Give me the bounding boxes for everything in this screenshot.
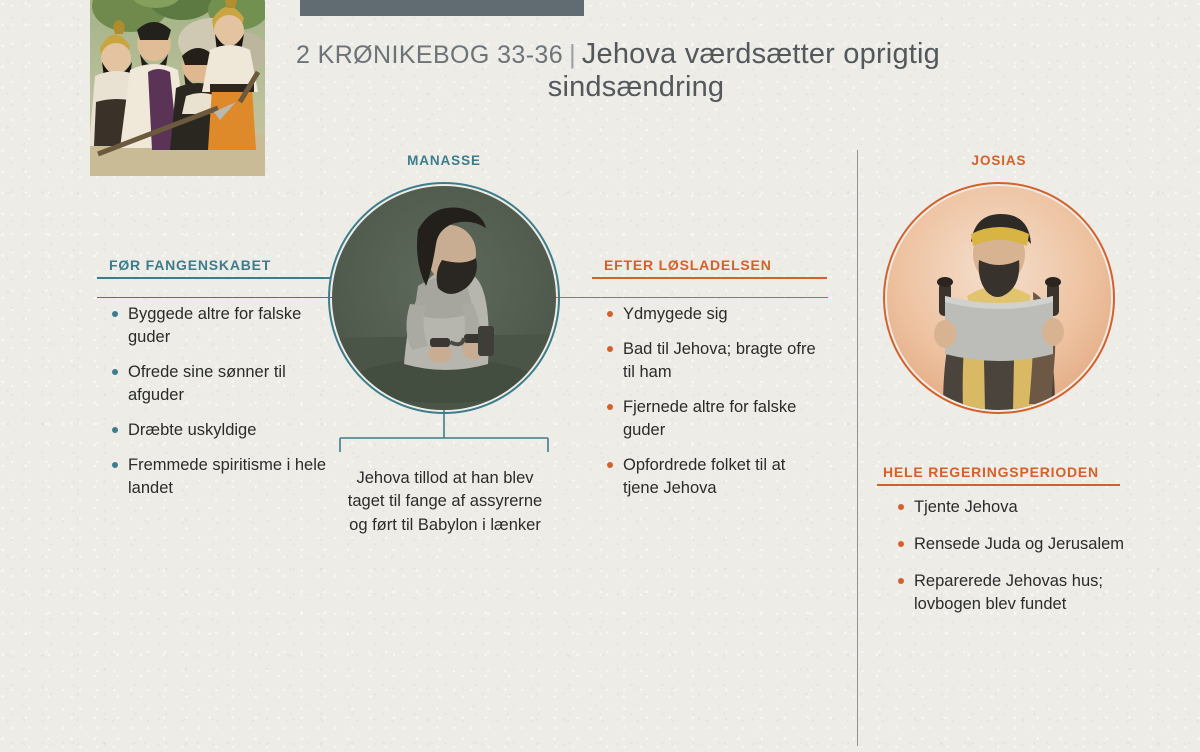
title-line-1: 2 KRØNIKEBOG 33-36|Jehova værdsætter opr… bbox=[296, 38, 976, 71]
title-text-line1: Jehova værdsætter oprigtig bbox=[582, 38, 940, 70]
list-before-captivity: Byggede altre for falske guder Ofrede si… bbox=[110, 303, 330, 511]
section-divider bbox=[857, 150, 858, 746]
scripture-reference: 2 KRØNIKEBOG 33-36 bbox=[296, 41, 563, 69]
connector-line-right bbox=[552, 297, 828, 298]
heading-entire-reign: HELE REGERINGSPERIODEN bbox=[883, 464, 1099, 480]
title-text-line2: sindsændring bbox=[548, 71, 725, 103]
list-item: Rensede Juda og Jerusalem bbox=[896, 533, 1141, 556]
manasse-portrait-artwork bbox=[332, 186, 556, 410]
rule-entire-reign bbox=[877, 484, 1120, 486]
list-after-release: Ydmygede sig Bad til Jehova; bragte ofre… bbox=[605, 303, 825, 511]
manasse-portrait bbox=[332, 186, 556, 410]
scene-thumbnail-image bbox=[90, 0, 265, 176]
bracket-shape bbox=[336, 408, 552, 452]
connector-line-left bbox=[97, 297, 337, 298]
list-item: Bad til Jehova; bragte ofre til ham bbox=[605, 338, 825, 384]
list-item: Opfordrede folket til at tjene Jehova bbox=[605, 454, 825, 500]
list-item: Byggede altre for falske guder bbox=[110, 303, 330, 349]
heading-after-release: EFTER LØSLADELSEN bbox=[604, 257, 772, 273]
josias-name-label: JOSIAS bbox=[885, 153, 1113, 168]
page-title: 2 KRØNIKEBOG 33-36|Jehova værdsætter opr… bbox=[296, 38, 976, 104]
manasse-name-label: MANASSE bbox=[330, 153, 558, 168]
list-item: Fjernede altre for falske guder bbox=[605, 396, 825, 442]
rule-after-release bbox=[592, 277, 827, 279]
josias-portrait bbox=[887, 186, 1111, 410]
heading-before-captivity: FØR FANGENSKABET bbox=[109, 257, 271, 273]
list-item: Ofrede sine sønner til afguder bbox=[110, 361, 330, 407]
rule-before-captivity bbox=[97, 277, 330, 279]
thumbnail-artwork bbox=[90, 0, 265, 176]
list-item: Ydmygede sig bbox=[605, 303, 825, 326]
list-item: Tjente Jehova bbox=[896, 496, 1141, 519]
list-item: Fremmede spiritisme i hele landet bbox=[110, 454, 330, 500]
title-line-2: sindsændring bbox=[296, 71, 976, 104]
josias-portrait-artwork bbox=[887, 186, 1111, 410]
top-accent-bar bbox=[300, 0, 584, 16]
title-separator: | bbox=[563, 39, 582, 69]
manasse-bracket-connector bbox=[336, 408, 552, 452]
list-item: Dræbte uskyldige bbox=[110, 419, 330, 442]
list-entire-reign: Tjente Jehova Rensede Juda og Jerusalem … bbox=[896, 496, 1141, 630]
manasse-caption: Jehova tillod at han blev taget til fang… bbox=[344, 467, 546, 537]
list-item: Reparerede Jehovas hus; lovbogen blev fu… bbox=[896, 570, 1141, 616]
